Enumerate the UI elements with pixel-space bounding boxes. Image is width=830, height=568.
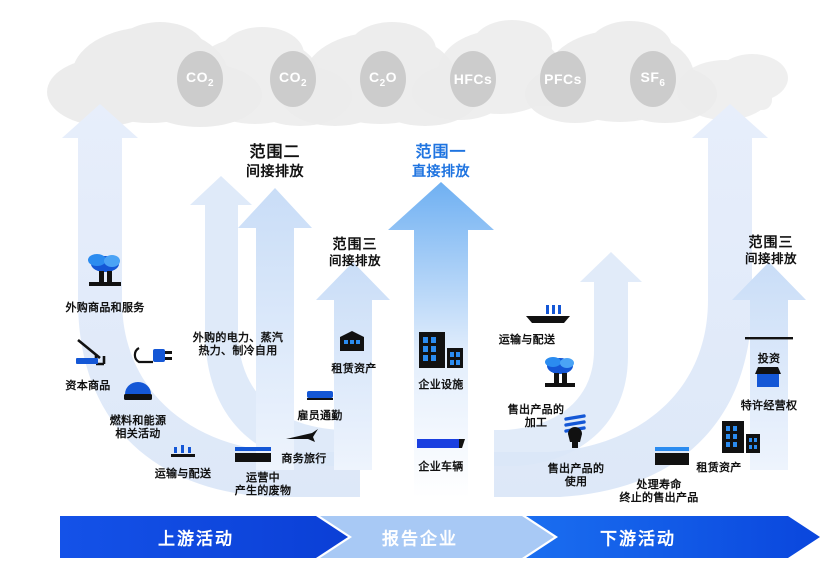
label-purchased-electricity: 外购的电力、蒸汽热力、制冷自用 <box>193 332 283 358</box>
banner-downstream-label[interactable]: 下游活动 <box>600 525 676 550</box>
franchise-store-icon <box>755 367 781 387</box>
truck-small-icon <box>171 445 195 457</box>
gas-label-sf6: SF6 <box>641 69 666 89</box>
commute-icon <box>307 391 333 400</box>
diagram-icons <box>0 0 830 568</box>
crane-icon <box>76 340 104 364</box>
scope2-heading-line1: 范围二 <box>213 143 337 162</box>
scope3-right-line1: 范围三 <box>716 234 826 251</box>
label-investments: 投资 <box>758 353 781 366</box>
ghg-scope-diagram: CO2 CO2 C2O HFCs PFCs SF6 范围二 间接排放 范围一 直… <box>0 0 830 568</box>
scope1-heading-line2: 直接排放 <box>379 162 503 181</box>
label-business-travel: 商务旅行 <box>281 453 326 466</box>
gas-label-co2-2: CO2 <box>279 69 307 89</box>
banner-reporting-label[interactable]: 报告企业 <box>382 525 458 550</box>
ship-icon <box>526 305 570 323</box>
label-franchises: 特许经营权 <box>741 400 798 413</box>
leased-assets-icon <box>722 421 760 453</box>
scope2-heading: 范围二 间接排放 <box>213 143 337 181</box>
label-processing-of-sold-products: 售出产品的加工 <box>508 404 565 430</box>
label-purchased-goods-services: 外购商品和服务 <box>65 302 144 315</box>
processing-factory-icon <box>545 357 575 387</box>
label-use-of-sold-products: 售出产品的使用 <box>548 463 605 489</box>
gas-label-hfcs: HFCs <box>454 71 493 87</box>
scope3-right-heading: 范围三 间接排放 <box>716 234 826 268</box>
banner-upstream-label[interactable]: 上游活动 <box>158 525 234 550</box>
label-waste-in-operations: 运营中产生的废物 <box>235 472 292 498</box>
fuel-dome-icon <box>124 382 152 400</box>
gas-label-pfcs: PFCs <box>544 71 582 87</box>
scope1-heading-line1: 范围一 <box>379 143 503 162</box>
scope3-right-line2: 间接排放 <box>716 251 826 268</box>
gas-label-co2-1: CO2 <box>186 69 214 89</box>
gas-label-c2o: C2O <box>369 69 397 89</box>
label-end-of-life-treatment: 处理寿命终止的售出产品 <box>619 479 698 505</box>
scope1-heading: 范围一 直接排放 <box>379 143 503 181</box>
lightbulb-icon <box>566 416 584 448</box>
scope3-left-line2: 间接排放 <box>300 253 410 270</box>
leased-building-icon <box>340 331 364 351</box>
eol-bin-icon <box>655 447 689 465</box>
airplane-icon <box>286 429 318 442</box>
scope3-left-line1: 范围三 <box>300 236 410 253</box>
label-company-vehicles: 企业车辆 <box>418 461 463 474</box>
scope2-heading-line2: 间接排放 <box>213 162 337 181</box>
label-downstream-transport-distribution: 运输与配送 <box>499 334 556 347</box>
label-company-facilities: 企业设施 <box>418 379 463 392</box>
waste-bin-icon <box>235 447 271 462</box>
company-vehicle-icon <box>417 439 465 448</box>
label-capital-goods: 资本商品 <box>65 380 110 393</box>
investment-icon <box>745 337 793 339</box>
label-upstream-leased-assets: 租赁资产 <box>331 363 376 376</box>
label-downstream-leased-assets: 租赁资产 <box>696 462 741 475</box>
label-fuel-energy-activities: 燃料和能源相关活动 <box>110 415 167 441</box>
scope3-left-heading: 范围三 间接排放 <box>300 236 410 270</box>
company-buildings-icon <box>419 332 463 368</box>
plug-icon <box>135 348 172 362</box>
factory-cloud-icon <box>88 254 121 286</box>
label-employee-commuting: 雇员通勤 <box>297 410 342 423</box>
label-upstream-transport-distribution: 运输与配送 <box>155 468 212 481</box>
